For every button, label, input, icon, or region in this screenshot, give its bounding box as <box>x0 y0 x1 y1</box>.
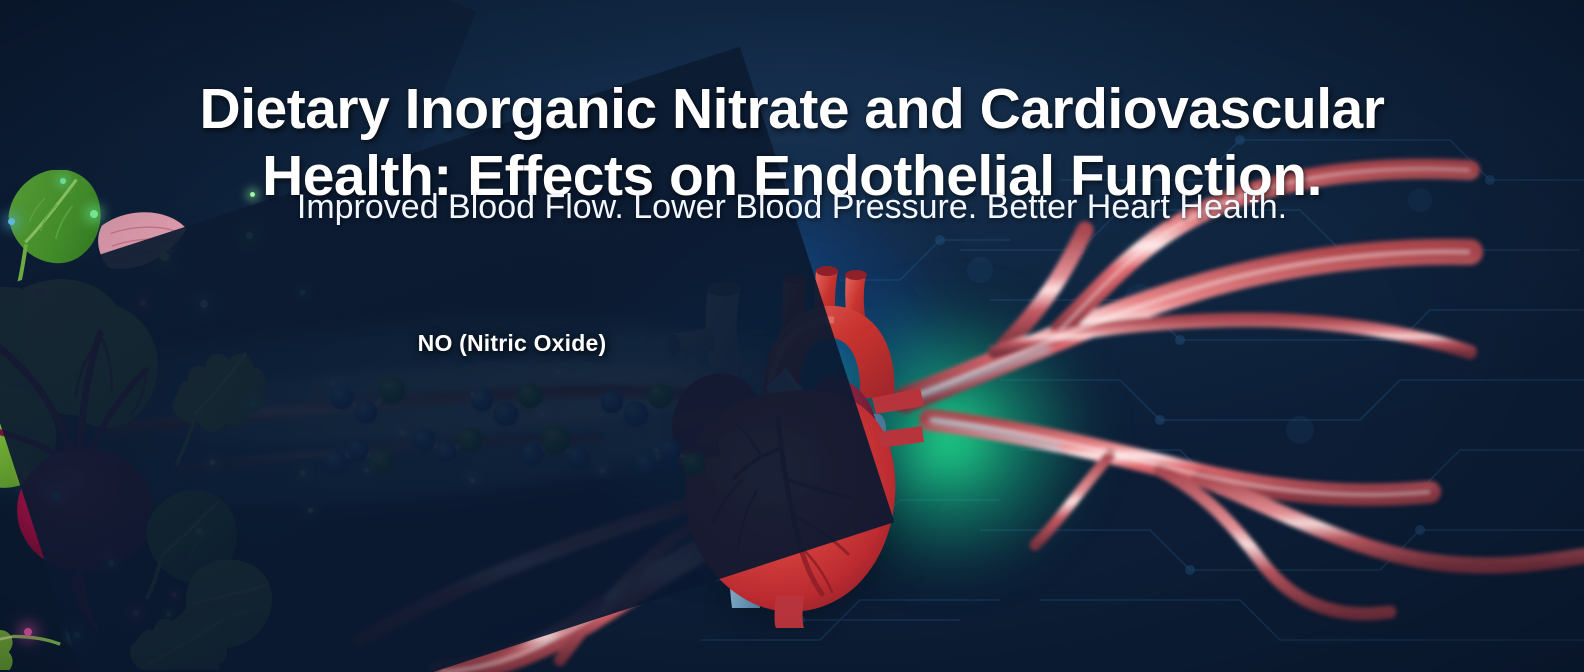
no-annotation-label: NO (Nitric Oxide) <box>0 330 1024 357</box>
title-line-1: Dietary Inorganic Nitrate and Cardiovasc… <box>200 77 1385 141</box>
page-subtitle: Improved Blood Flow. Lower Blood Pressur… <box>0 188 1584 227</box>
poster-canvas: Dietary Inorganic Nitrate and Cardiovasc… <box>0 0 1584 672</box>
